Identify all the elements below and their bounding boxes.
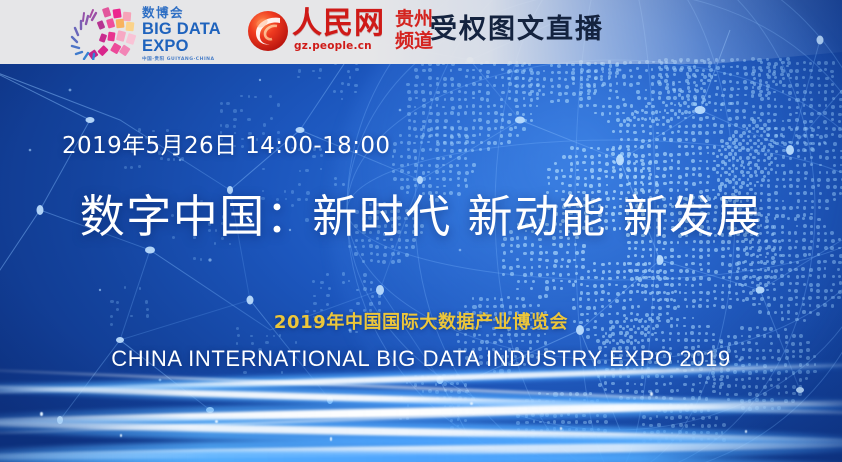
bigdata-expo-logo[interactable]: 数博会 BIG DATA EXPO 中国·贵阳 GUIYANG·CHINA <box>62 4 242 62</box>
expo-location: 中国·贵阳 GUIYANG·CHINA <box>142 56 242 63</box>
live-broadcast-banner: 数博会 BIG DATA EXPO 中国·贵阳 GUIYANG·CHINA <box>0 0 842 462</box>
peoples-daily-logo[interactable]: 人民网 gz.people.cn 贵州 频道 <box>246 7 406 57</box>
bigdata-expo-swirl-icon <box>62 6 140 60</box>
peoples-daily-url: gz.people.cn <box>294 40 372 52</box>
peoples-daily-cn-name: 人民网 <box>292 7 385 41</box>
peoples-daily-orb-icon <box>246 9 290 53</box>
event-subtitle-cn: 2019年中国国际大数据产业博览会 <box>0 308 842 334</box>
live-banner-title: 受权图文直播 <box>430 14 604 46</box>
event-headline: 数字中国：新时代 新动能 新发展 <box>0 180 842 245</box>
event-subtitle-en: CHINA INTERNATIONAL BIG DATA INDUSTRY EX… <box>0 346 842 372</box>
bigdata-expo-wordmark: 数博会 BIG DATA EXPO 中国·贵阳 GUIYANG·CHINA <box>142 4 242 63</box>
event-datetime: 2019年5月26日 14:00-18:00 <box>62 126 390 160</box>
expo-en-line1: BIG DATA <box>142 21 242 38</box>
header-content: 数博会 BIG DATA EXPO 中国·贵阳 GUIYANG·CHINA <box>0 0 842 64</box>
expo-cn-name: 数博会 <box>142 6 242 20</box>
expo-en-line2: EXPO <box>142 38 242 55</box>
